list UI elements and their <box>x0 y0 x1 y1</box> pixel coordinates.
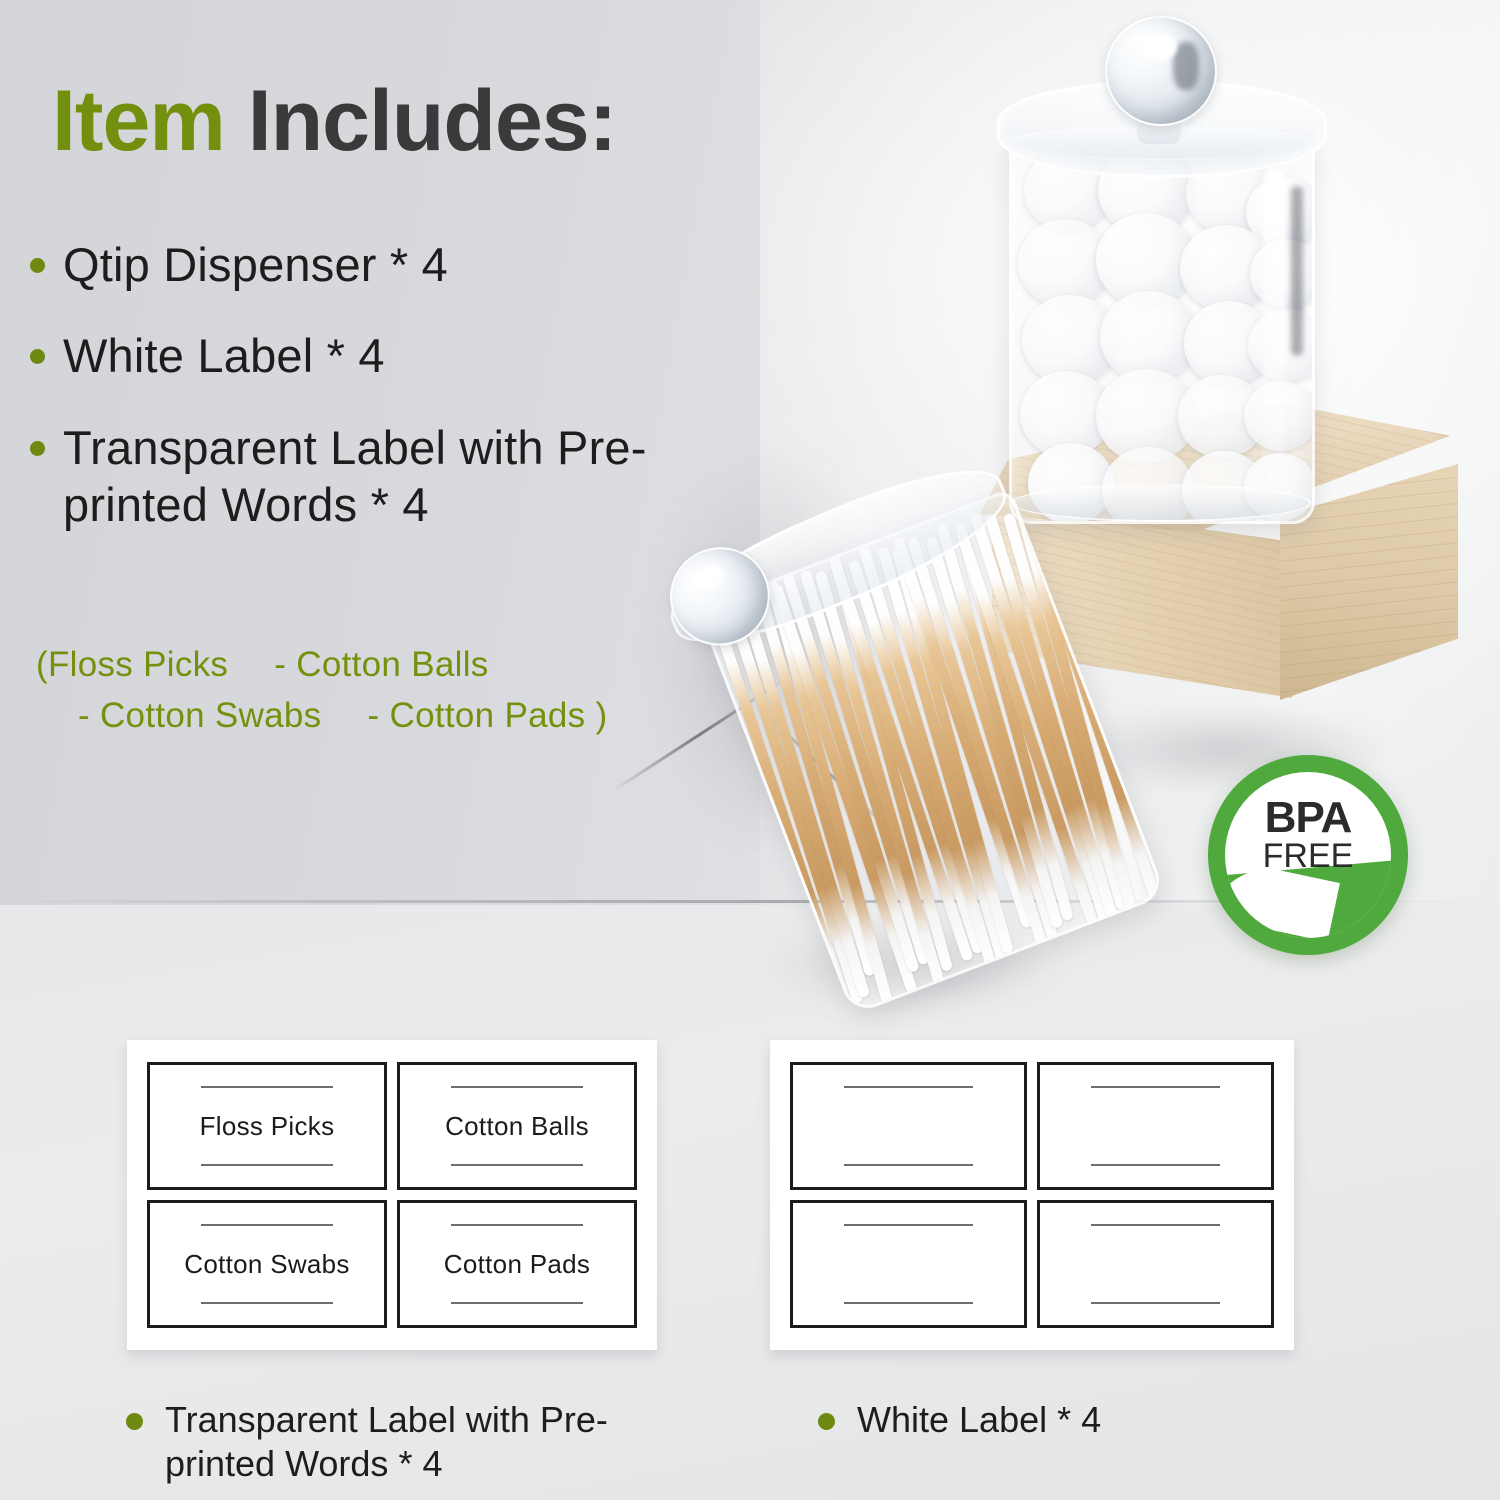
label-card: Cotton Swabs <box>147 1200 387 1328</box>
label-rule-bottom <box>1091 1164 1220 1166</box>
label-card-text: Floss Picks <box>200 1111 335 1142</box>
label-card: Floss Picks <box>147 1062 387 1190</box>
bullet-dot-icon <box>126 1413 143 1430</box>
page-title: Item Includes: <box>52 78 616 164</box>
page-title-dark-word: Includes: <box>248 73 617 169</box>
bpa-free-badge: BPA FREE <box>1208 755 1408 955</box>
jar-knob <box>1105 16 1217 126</box>
bullet-dot-icon <box>30 258 45 273</box>
label-rule-bottom <box>1091 1302 1220 1304</box>
label-card: Cotton Balls <box>397 1062 637 1190</box>
label-rule-top <box>1091 1086 1220 1088</box>
jar-highlight <box>1263 168 1285 468</box>
transparent-label-caption: Transparent Label with Pre-printed Words… <box>126 1398 686 1486</box>
label-rule-bottom <box>451 1164 582 1166</box>
jar-knob-shade <box>1173 42 1199 90</box>
label-card-blank <box>790 1200 1027 1328</box>
list-item: Qtip Dispenser * 4 <box>18 236 708 293</box>
label-words-note-line-1: (Floss Picks - Cotton Balls <box>36 640 656 691</box>
label-card: Cotton Pads <box>397 1200 637 1328</box>
jar-edge-shade <box>1291 186 1303 356</box>
white-label-sheet <box>770 1040 1294 1350</box>
label-rule-bottom <box>451 1302 582 1304</box>
note-floss-picks: (Floss Picks <box>36 645 228 684</box>
note-cotton-balls: - Cotton Balls <box>274 645 488 684</box>
note-cotton-pads: - Cotton Pads ) <box>368 696 608 735</box>
infographic-canvas: Item Includes: Qtip Dispenser * 4 White … <box>0 0 1500 1500</box>
label-card-text: Cotton Balls <box>445 1111 589 1142</box>
caption-label: Transparent Label with Pre-printed Words… <box>165 1398 686 1486</box>
bpa-badge-inner: BPA FREE <box>1225 772 1391 938</box>
label-rule-top <box>844 1224 973 1226</box>
list-item-label: White Label * 4 <box>63 327 385 384</box>
list-item: Transparent Label with Pre-printed Words… <box>18 419 708 534</box>
label-words-note: (Floss Picks - Cotton Balls - Cotton Swa… <box>36 640 656 742</box>
label-card-text: Cotton Swabs <box>184 1249 349 1280</box>
white-label-caption: White Label * 4 <box>818 1398 1298 1442</box>
bpa-badge-line2: FREE <box>1225 839 1391 873</box>
list-item-label: Qtip Dispenser * 4 <box>63 236 448 293</box>
label-rule-bottom <box>201 1164 332 1166</box>
transparent-label-sheet: Floss Picks Cotton Balls Cotton Swabs Co… <box>127 1040 657 1350</box>
label-card-blank <box>1037 1200 1274 1328</box>
list-item: White Label * 4 <box>18 327 708 384</box>
item-includes-list: Qtip Dispenser * 4 White Label * 4 Trans… <box>18 236 708 567</box>
label-card-blank <box>790 1062 1027 1190</box>
bullet-dot-icon <box>818 1413 835 1430</box>
label-card-blank <box>1037 1062 1274 1190</box>
label-rule-top <box>844 1086 973 1088</box>
label-rule-bottom <box>844 1164 973 1166</box>
bpa-badge-line1: BPA <box>1225 796 1391 839</box>
label-rule-bottom <box>844 1302 973 1304</box>
label-rule-top <box>201 1086 332 1088</box>
caption-label: White Label * 4 <box>857 1398 1101 1442</box>
label-rule-top <box>451 1224 582 1226</box>
list-item-label: Transparent Label with Pre-printed Words… <box>63 419 708 534</box>
label-rule-top <box>451 1086 582 1088</box>
label-rule-bottom <box>201 1302 332 1304</box>
jar-knob-glint <box>1143 34 1177 60</box>
bullet-dot-icon <box>30 349 45 364</box>
label-rule-top <box>1091 1224 1220 1226</box>
bullet-dot-icon <box>30 441 45 456</box>
note-cotton-swabs: - Cotton Swabs <box>78 696 321 735</box>
bpa-badge-text: BPA FREE <box>1225 796 1391 873</box>
page-title-green-word: Item <box>52 73 225 169</box>
label-rule-top <box>201 1224 332 1226</box>
label-words-note-line-2: - Cotton Swabs - Cotton Pads ) <box>36 691 656 742</box>
label-card-text: Cotton Pads <box>444 1249 590 1280</box>
